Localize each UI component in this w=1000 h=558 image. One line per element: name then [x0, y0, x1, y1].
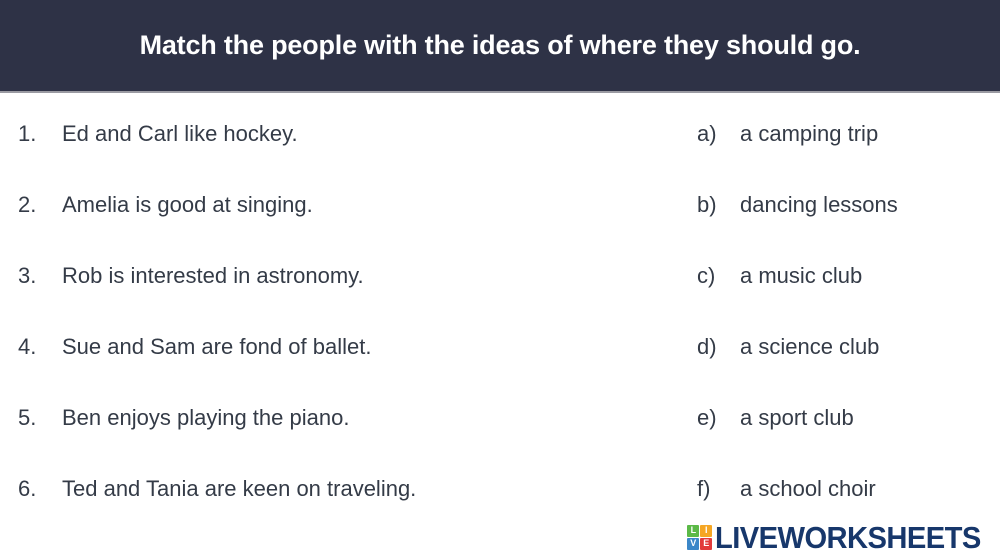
list-item[interactable]: 3. Rob is interested in astronomy.	[18, 265, 658, 336]
option-text[interactable]: a music club	[740, 265, 862, 287]
option-text[interactable]: a camping trip	[740, 123, 878, 145]
option-text[interactable]: dancing lessons	[740, 194, 898, 216]
statement-text[interactable]: Amelia is good at singing.	[62, 194, 313, 216]
option-letter: a)	[697, 123, 740, 145]
statement-text[interactable]: Sue and Sam are fond of ballet.	[62, 336, 371, 358]
brand-wordmark: LIVEWORKSHEETS	[715, 522, 981, 553]
liveworksheets-watermark: L I V E LIVEWORKSHEETS	[687, 520, 998, 554]
list-item[interactable]: 1. Ed and Carl like hockey.	[18, 123, 658, 194]
logo-tile-i: I	[700, 525, 712, 537]
option-letter: d)	[697, 336, 740, 358]
statement-text[interactable]: Ben enjoys playing the piano.	[62, 407, 349, 429]
logo-tile-v: V	[687, 538, 699, 550]
option-text[interactable]: a science club	[740, 336, 879, 358]
list-item[interactable]: 2. Amelia is good at singing.	[18, 194, 658, 265]
option-letter: c)	[697, 265, 740, 287]
list-item[interactable]: 6. Ted and Tania are keen on traveling.	[18, 478, 658, 549]
logo-tile-l: L	[687, 525, 699, 537]
item-number: 3.	[18, 265, 62, 287]
list-item[interactable]: b) dancing lessons	[697, 194, 997, 265]
option-text[interactable]: a sport club	[740, 407, 854, 429]
item-number: 5.	[18, 407, 62, 429]
list-item[interactable]: d) a science club	[697, 336, 997, 407]
list-item[interactable]: a) a camping trip	[697, 123, 997, 194]
statements-column: 1. Ed and Carl like hockey. 2. Amelia is…	[18, 123, 658, 549]
item-number: 2.	[18, 194, 62, 216]
list-item[interactable]: c) a music club	[697, 265, 997, 336]
worksheet-body: 1. Ed and Carl like hockey. 2. Amelia is…	[0, 95, 1000, 558]
list-item[interactable]: 4. Sue and Sam are fond of ballet.	[18, 336, 658, 407]
option-letter: e)	[697, 407, 740, 429]
item-number: 1.	[18, 123, 62, 145]
option-letter: b)	[697, 194, 740, 216]
statement-text[interactable]: Ed and Carl like hockey.	[62, 123, 298, 145]
statement-text[interactable]: Rob is interested in astronomy.	[62, 265, 364, 287]
matching-exercise: 1. Ed and Carl like hockey. 2. Amelia is…	[0, 95, 1000, 525]
options-column: a) a camping trip b) dancing lessons c) …	[697, 123, 997, 549]
option-text[interactable]: a school choir	[740, 478, 876, 500]
page-title: Match the people with the ideas of where…	[140, 31, 861, 61]
item-number: 6.	[18, 478, 62, 500]
item-number: 4.	[18, 336, 62, 358]
statement-text[interactable]: Ted and Tania are keen on traveling.	[62, 478, 416, 500]
list-item[interactable]: e) a sport club	[697, 407, 997, 478]
logo-tile-e: E	[700, 538, 712, 550]
worksheet-header: Match the people with the ideas of where…	[0, 0, 1000, 93]
liveworksheets-logo-icon: L I V E	[687, 525, 712, 550]
list-item[interactable]: 5. Ben enjoys playing the piano.	[18, 407, 658, 478]
option-letter: f)	[697, 478, 740, 500]
